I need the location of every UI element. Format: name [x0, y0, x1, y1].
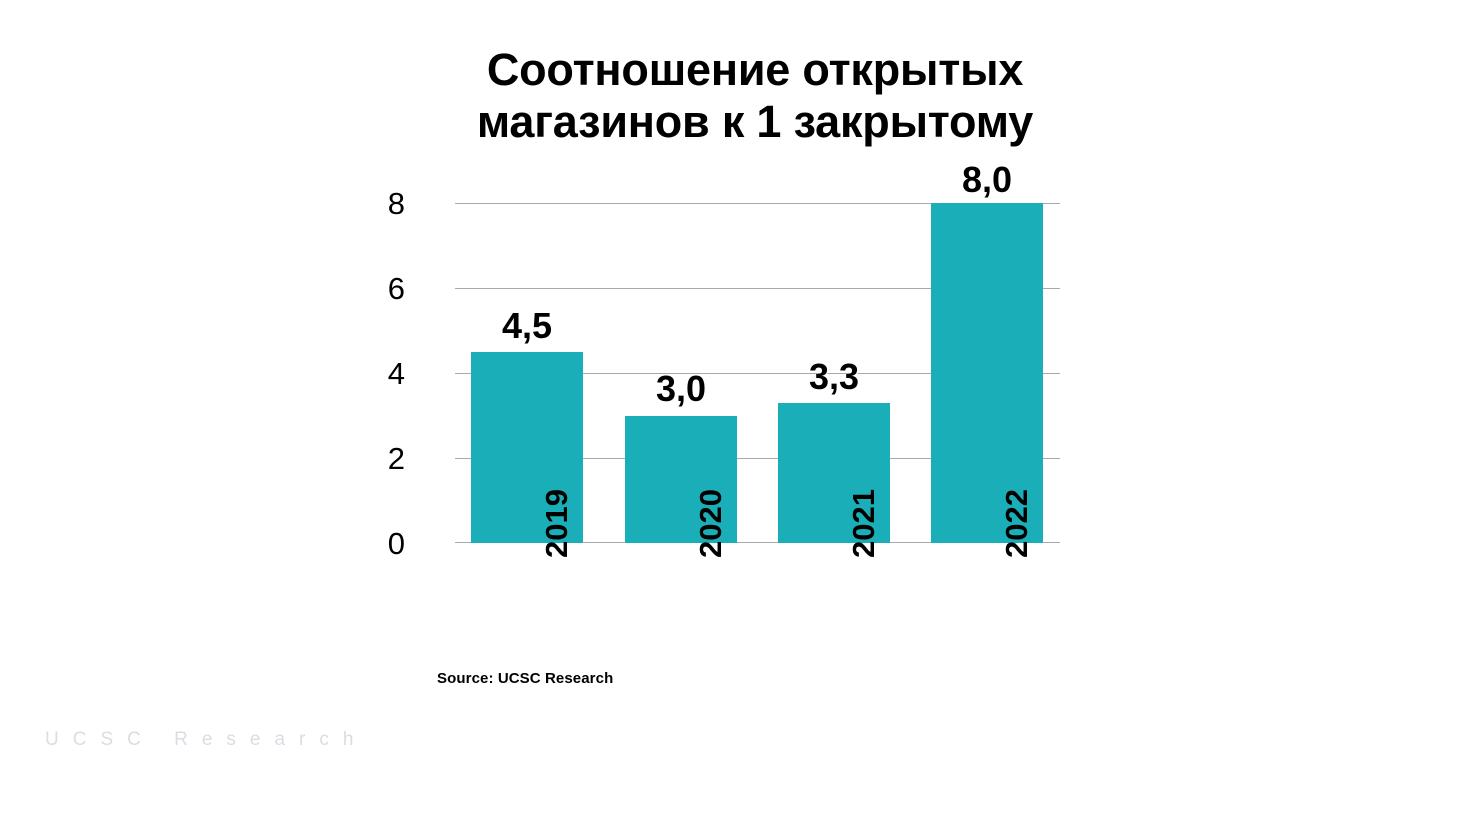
- y-axis-tick-0: 0: [365, 528, 405, 559]
- chart-title-line-2: магазинов к 1 закрытому: [390, 96, 1120, 148]
- chart-title-line-1: Соотношение открытых: [390, 44, 1120, 96]
- bar-value-2021: 3,3: [778, 359, 890, 395]
- y-axis-tick-2: 2: [365, 443, 405, 474]
- bar-value-2022: 8,0: [931, 162, 1043, 198]
- x-axis-label-2022-text: 2022: [1001, 489, 1032, 558]
- x-axis-label-2020-text: 2020: [695, 489, 726, 558]
- x-axis-label-2019: 2019: [471, 556, 583, 656]
- x-axis-label-2021: 2021: [778, 556, 890, 656]
- chart-title: Соотношение открытых магазинов к 1 закры…: [390, 44, 1120, 148]
- bar-value-2020: 3,0: [625, 371, 737, 407]
- watermark: UCSC Research: [45, 729, 367, 751]
- source-note: Source: UCSC Research: [437, 670, 613, 687]
- x-axis-label-2019-text: 2019: [541, 489, 572, 558]
- y-axis-tick-6: 6: [365, 273, 405, 304]
- y-axis-tick-8: 8: [365, 188, 405, 219]
- x-axis-label-2022: 2022: [931, 556, 1043, 656]
- y-axis-tick-4: 4: [365, 358, 405, 389]
- x-axis-label-2021-text: 2021: [848, 489, 879, 558]
- bar-value-2019: 4,5: [471, 308, 583, 344]
- x-axis-label-2020: 2020: [625, 556, 737, 656]
